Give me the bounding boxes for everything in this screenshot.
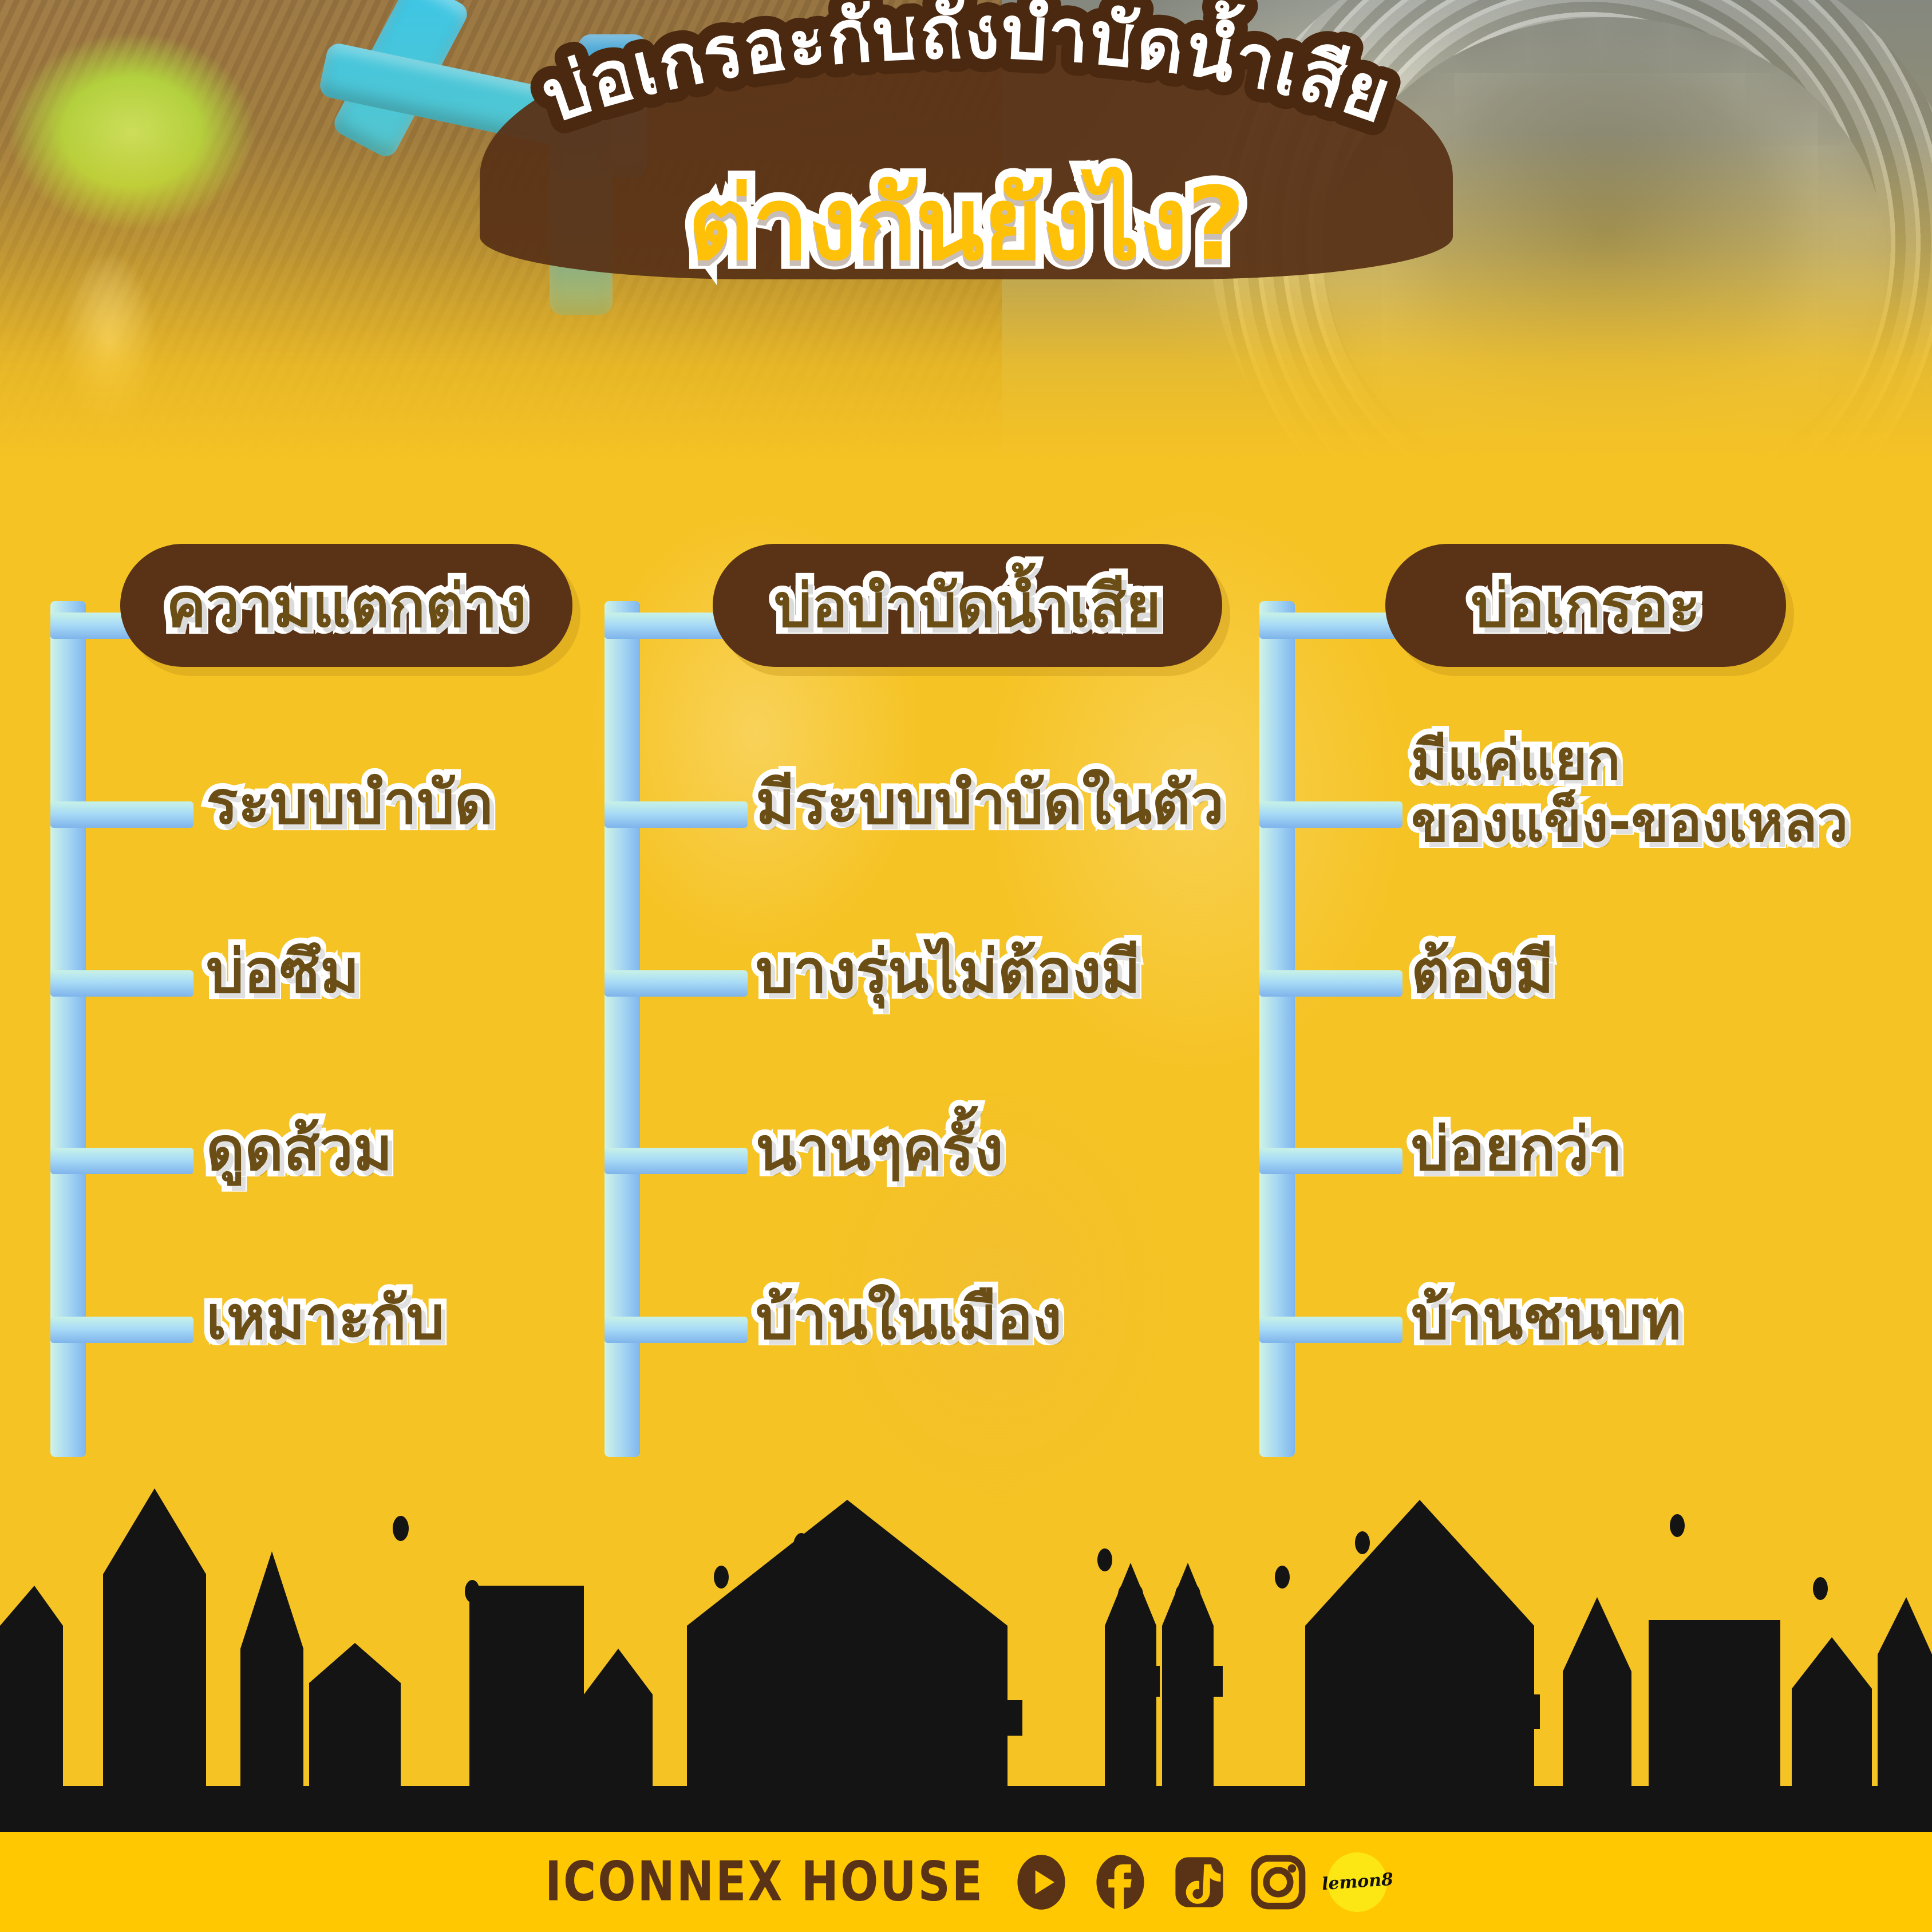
ladder-rung [1259,970,1402,997]
column-header-label-2: บ่อบำบัดน้ำเสีย [774,558,1161,653]
ladder-rung [1259,1317,1402,1343]
lemon8-label: lemon8 [1321,1870,1394,1895]
column-header-pill-3: บ่อเกรอะ [1385,544,1786,667]
table-cell: ระบบบำบัด [206,773,493,832]
ladder-rung [605,801,748,828]
column-header-pill-2: บ่อบำบัดน้ำเสีย [713,544,1222,667]
ladder-rung [50,801,193,828]
table-cell: นานๆครั้ง [756,1119,1003,1179]
title-block: บ่อเกรอะกับถังบำบัดน้ำเสีย ต่างกันยังไง? [0,0,1932,321]
city-silhouette [0,1454,1932,1832]
table-cell: บ่อซึม [206,942,359,1001]
table-cell: มีระบบบำบัดในตัว [756,773,1224,832]
footer-bar: ICONNEX HOUSE lemon8 [0,1832,1932,1932]
column-header-label-1: ความแตกต่าง [166,558,526,653]
ladder-rung [605,970,748,997]
infographic-page: บ่อเกรอะกับถังบำบัดน้ำเสีย ต่างกันยังไง?… [0,0,1932,1932]
table-cell: บางรุ่นไม่ต้องมี [756,942,1140,1001]
table-cell: ดูดส้วม [206,1119,393,1179]
column-header-label-3: บ่อเกรอะ [1471,558,1700,653]
table-cell: มีแค่แยก ของแข็ง-ของเหลว [1411,730,1848,853]
ladder-rung [1259,801,1402,828]
table-cell: เหมาะกับ [206,1288,444,1348]
table-cell: บ่อยกว่า [1411,1119,1622,1179]
table-cell: ต้องมี [1411,942,1554,1001]
ladder-rung [50,1148,193,1174]
ladder-rung [50,970,193,997]
ladder-rung [1259,613,1402,639]
ladder-rung [605,1317,748,1343]
table-cell: บ้านชนบท [1411,1288,1681,1348]
instagram-icon[interactable] [1249,1852,1308,1912]
ladder-rung [605,1148,748,1174]
comparison-table: ความแตกต่าง วัสดุ ระบบบำบัด บ่อซึม ดูดส้… [0,492,1932,1591]
facebook-icon[interactable] [1091,1852,1150,1912]
brand-name: ICONNEX HOUSE [545,1851,984,1914]
column-header-pill-1: ความแตกต่าง [120,544,572,667]
ladder-rung [1259,1148,1402,1174]
lemon8-icon[interactable]: lemon8 [1327,1852,1387,1912]
tiktok-icon[interactable] [1170,1852,1229,1912]
title-line2: ต่างกันยังไง? [0,172,1932,278]
table-cell: บ้านในเมือง [756,1288,1062,1348]
youtube-icon[interactable] [1012,1852,1071,1912]
ladder-rung [50,1317,193,1343]
title-line1-arc: บ่อเกรอะกับถังบำบัดน้ำเสีย [532,0,1401,140]
